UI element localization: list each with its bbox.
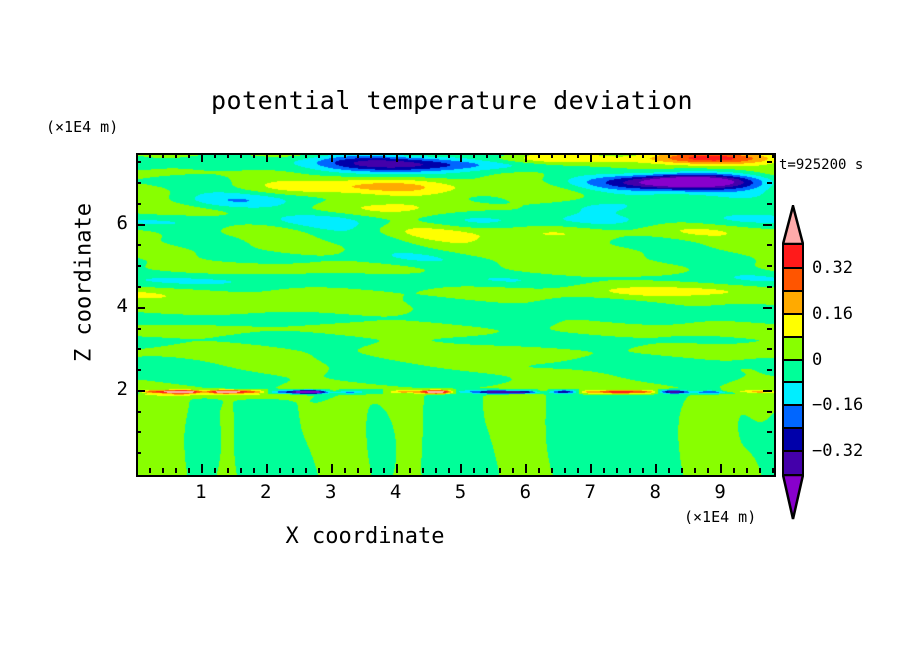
colorbar-tick-label: 0.32 (812, 258, 853, 278)
x-axis-label: X coordinate (0, 524, 730, 549)
axis-tick (616, 468, 618, 473)
axis-tick (767, 431, 772, 433)
axis-tick (136, 224, 145, 226)
colorbar-top-arrow (782, 205, 804, 245)
axis-tick (370, 153, 372, 158)
axis-tick (603, 468, 605, 473)
colorbar-band (784, 337, 802, 360)
colorbar-band (784, 405, 802, 428)
axis-tick (681, 153, 683, 158)
axis-tick (136, 307, 145, 309)
axis-tick (448, 153, 450, 158)
contour-field-canvas (138, 155, 774, 475)
axis-tick (175, 153, 177, 158)
axis-tick (746, 468, 748, 473)
axis-tick (292, 468, 294, 473)
axis-tick (266, 153, 268, 162)
axis-tick (551, 468, 553, 473)
axis-tick (767, 244, 772, 246)
axis-tick (240, 153, 242, 158)
axis-tick (344, 153, 346, 158)
x-tick-label: 4 (376, 481, 416, 503)
axis-tick (590, 464, 592, 473)
axis-tick (499, 468, 501, 473)
axis-tick (720, 464, 722, 473)
axis-tick (473, 153, 475, 158)
axis-tick (538, 153, 540, 158)
axis-tick (694, 153, 696, 158)
axis-tick (629, 468, 631, 473)
axis-tick (409, 468, 411, 473)
axis-tick (188, 468, 190, 473)
axis-tick (136, 161, 141, 163)
axis-tick (767, 265, 772, 267)
axis-tick (767, 286, 772, 288)
axis-tick (292, 153, 294, 158)
axis-tick (564, 468, 566, 473)
axis-tick (201, 464, 203, 473)
x-tick-label: 7 (570, 481, 610, 503)
axis-tick (499, 153, 501, 158)
colorbar-tick-label: −0.32 (812, 441, 863, 461)
colorbar-separator (784, 404, 802, 406)
axis-tick (149, 153, 151, 158)
axis-tick (253, 153, 255, 158)
axis-tick (305, 153, 307, 158)
colorbar-tick-label: −0.16 (812, 395, 863, 415)
axis-tick (396, 153, 398, 162)
axis-tick (136, 452, 141, 454)
axis-tick (707, 468, 709, 473)
axis-tick (668, 468, 670, 473)
z-axis-unit-label: (×1E4 m) (46, 118, 118, 136)
axis-tick (214, 153, 216, 158)
axis-tick (422, 468, 424, 473)
axis-tick (136, 390, 145, 392)
axis-tick (136, 431, 141, 433)
axis-tick (767, 452, 772, 454)
axis-tick (590, 153, 592, 162)
axis-tick (136, 203, 141, 205)
axis-tick (767, 203, 772, 205)
axis-tick (486, 468, 488, 473)
axis-tick (448, 468, 450, 473)
axis-tick (642, 153, 644, 158)
axis-tick (763, 224, 772, 226)
axis-tick (331, 153, 333, 162)
axis-tick (642, 468, 644, 473)
axis-tick (668, 153, 670, 158)
axis-tick (473, 468, 475, 473)
axis-tick (409, 153, 411, 158)
axis-tick (772, 468, 774, 473)
axis-tick (136, 182, 141, 184)
x-tick-label: 1 (181, 481, 221, 503)
y-tick-label: 2 (88, 378, 128, 400)
axis-tick (188, 153, 190, 158)
time-annotation: t=925200 s (779, 157, 863, 173)
axis-tick (486, 153, 488, 158)
y-tick-label: 4 (88, 295, 128, 317)
axis-tick (603, 153, 605, 158)
page-title: potential temperature deviation (0, 86, 904, 115)
axis-tick (767, 369, 772, 371)
axis-tick (162, 468, 164, 473)
axis-tick (707, 153, 709, 158)
axis-tick (746, 153, 748, 158)
axis-tick (279, 468, 281, 473)
axis-tick (370, 468, 372, 473)
axis-tick (655, 464, 657, 473)
axis-tick (344, 468, 346, 473)
axis-tick (318, 153, 320, 158)
axis-tick (136, 348, 141, 350)
axis-tick (214, 468, 216, 473)
axis-tick (616, 153, 618, 158)
axis-tick (227, 468, 229, 473)
colorbar-tick-label: 0 (812, 350, 822, 370)
colorbar-band (784, 268, 802, 291)
colorbar-down-arrow-icon (782, 474, 804, 520)
axis-tick (694, 468, 696, 473)
axis-tick (136, 286, 141, 288)
colorbar-separator (784, 313, 802, 315)
colorbar-separator (784, 359, 802, 361)
axis-tick (357, 153, 359, 158)
axis-tick (136, 265, 141, 267)
axis-tick (162, 153, 164, 158)
axis-tick (136, 369, 141, 371)
axis-tick (763, 390, 772, 392)
x-tick-label: 9 (700, 481, 740, 503)
axis-tick (767, 328, 772, 330)
axis-tick (720, 153, 722, 162)
colorbar-separator (784, 450, 802, 452)
colorbar-band (784, 428, 802, 451)
axis-tick (564, 153, 566, 158)
axis-tick (305, 468, 307, 473)
axis-tick (383, 468, 385, 473)
axis-tick (201, 153, 203, 162)
axis-tick (266, 464, 268, 473)
colorbar-tick-label: 0.16 (812, 304, 853, 324)
axis-tick (396, 464, 398, 473)
axis-tick (435, 468, 437, 473)
axis-tick (279, 153, 281, 158)
axis-tick (577, 153, 579, 158)
colorbar-separator (784, 290, 802, 292)
axis-tick (227, 153, 229, 158)
axis-tick (136, 328, 141, 330)
axis-tick (512, 468, 514, 473)
axis-tick (525, 464, 527, 473)
x-tick-label: 3 (311, 481, 351, 503)
axis-tick (655, 153, 657, 162)
axis-tick (512, 153, 514, 158)
colorbar-band (784, 382, 802, 405)
axis-tick (538, 468, 540, 473)
axis-tick (240, 468, 242, 473)
axis-tick (460, 464, 462, 473)
axis-tick (629, 153, 631, 158)
colorbar-up-arrow-icon (782, 205, 804, 245)
axis-tick (763, 307, 772, 309)
axis-tick (733, 153, 735, 158)
axis-tick (136, 244, 141, 246)
colorbar-band (784, 291, 802, 314)
axis-tick (767, 348, 772, 350)
axis-tick (759, 153, 761, 158)
colorbar-separator (784, 381, 802, 383)
colorbar-band (784, 451, 802, 474)
axis-tick (253, 468, 255, 473)
axis-tick (767, 182, 772, 184)
colorbar-separator (784, 336, 802, 338)
axis-tick (551, 153, 553, 158)
axis-tick (759, 468, 761, 473)
colorbar (782, 243, 804, 476)
axis-tick (460, 153, 462, 162)
x-tick-label: 5 (440, 481, 480, 503)
axis-tick (318, 468, 320, 473)
axis-tick (525, 153, 527, 162)
x-tick-label: 2 (246, 481, 286, 503)
x-tick-label: 8 (635, 481, 675, 503)
contour-plot-area (136, 153, 776, 477)
colorbar-band (784, 360, 802, 383)
colorbar-separator (784, 427, 802, 429)
colorbar-separator (784, 267, 802, 269)
axis-tick (577, 468, 579, 473)
axis-tick (136, 411, 141, 413)
figure-root: potential temperature deviation (×1E4 m)… (0, 0, 904, 654)
axis-tick (767, 411, 772, 413)
axis-tick (772, 153, 774, 158)
y-axis-label: Z coordinate (72, 173, 97, 393)
colorbar-bottom-arrow (782, 474, 804, 520)
colorbar-band (784, 314, 802, 337)
axis-tick (681, 468, 683, 473)
axis-tick (435, 153, 437, 158)
axis-tick (149, 468, 151, 473)
axis-tick (422, 153, 424, 158)
x-tick-label: 6 (505, 481, 545, 503)
axis-tick (331, 464, 333, 473)
y-tick-label: 6 (88, 212, 128, 234)
axis-tick (383, 153, 385, 158)
colorbar-band (784, 245, 802, 268)
axis-tick (733, 468, 735, 473)
axis-tick (767, 161, 772, 163)
axis-tick (175, 468, 177, 473)
axis-tick (357, 468, 359, 473)
